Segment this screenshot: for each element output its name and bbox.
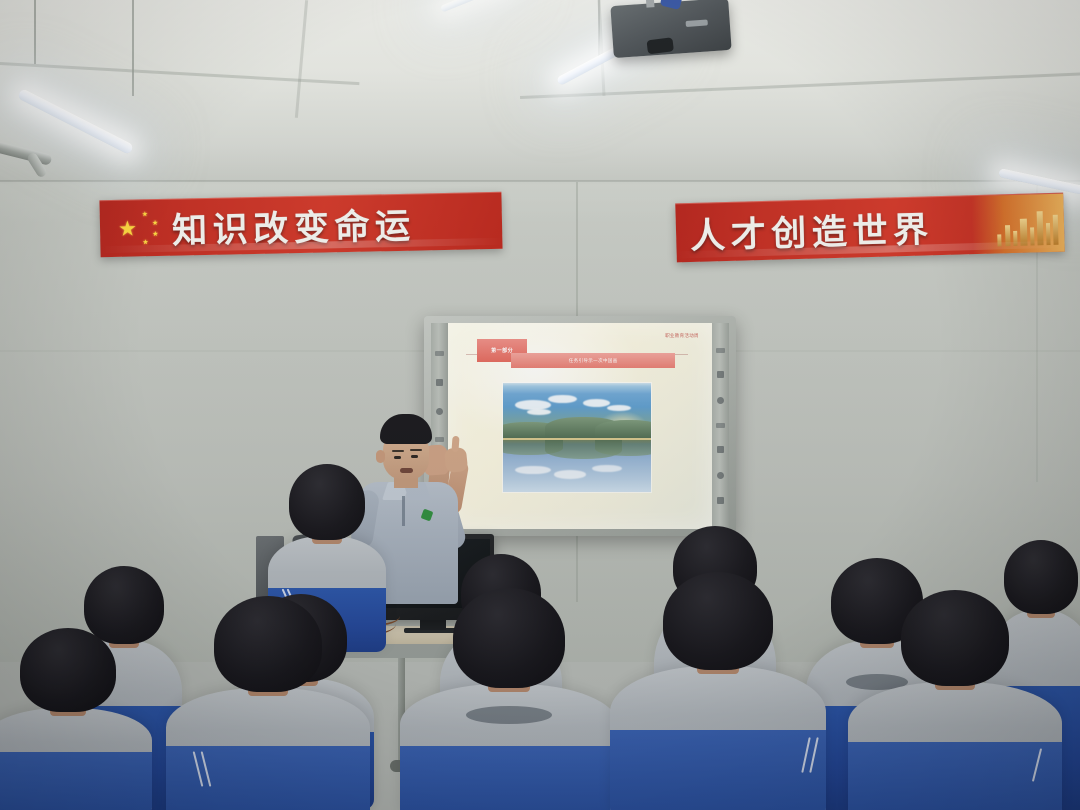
- student-head: [214, 596, 322, 692]
- student: [400, 644, 618, 810]
- student-head: [1004, 540, 1078, 614]
- student-head: [84, 566, 164, 644]
- teacher-mouth: [400, 468, 413, 473]
- eraser-icon[interactable]: [717, 397, 724, 404]
- student-uniform: [0, 708, 152, 810]
- slide-landscape-photo: [503, 383, 651, 492]
- banner-knowledge-changes-destiny: ★ ★ ★ ★ ★ 知识改变命运: [99, 192, 502, 257]
- student-uniform: [166, 688, 370, 810]
- teacher-hair: [380, 414, 432, 444]
- teacher-eyebrow: [392, 450, 404, 452]
- pen-icon[interactable]: [435, 351, 444, 356]
- student-uniform: [610, 666, 826, 810]
- student: [166, 650, 370, 810]
- student-head: [901, 590, 1009, 686]
- student: [0, 656, 152, 810]
- highlighter-icon[interactable]: [717, 371, 724, 378]
- student-head: [289, 464, 365, 540]
- classroom-photo: ★ ★ ★ ★ ★ 知识改变命运 人才创造世界: [0, 0, 1080, 810]
- slide-title-bar: 任务引导示一次中国画: [511, 353, 675, 368]
- ceiling: [0, 0, 1080, 186]
- student: [848, 642, 1062, 810]
- student-head: [453, 588, 565, 688]
- projector-badge: [686, 19, 708, 27]
- teacher-eye: [394, 456, 401, 459]
- student-head: [663, 572, 773, 670]
- eraser-icon[interactable]: [436, 379, 443, 386]
- pen-icon[interactable]: [716, 348, 725, 353]
- power-icon[interactable]: [717, 497, 724, 504]
- ceiling-seam: [295, 0, 308, 118]
- ceiling-projector: [610, 0, 731, 58]
- projector-mount: [645, 0, 654, 8]
- student-uniform: [400, 684, 618, 810]
- teacher-eye: [411, 455, 418, 458]
- settings-icon[interactable]: [717, 472, 724, 479]
- light-rod: [132, 0, 134, 96]
- whiteboard-toolbar-right[interactable]: [712, 323, 729, 529]
- student-head: [20, 628, 116, 712]
- student-uniform: [848, 682, 1062, 810]
- banner-talent-creates-world: 人才创造世界: [675, 193, 1064, 263]
- camera-icon[interactable]: [716, 423, 725, 428]
- student: [610, 620, 826, 810]
- projector-cable: [660, 0, 684, 10]
- light-rod: [598, 0, 600, 56]
- whiteboard-inner: 第一部分 任务引导示一次中国画 职业教育活动周: [431, 323, 729, 529]
- ceiling-seam: [0, 62, 359, 85]
- teacher-ear: [376, 450, 385, 463]
- projector-lens-icon: [646, 37, 674, 54]
- slide-corner-text: 职业教育活动周: [665, 333, 699, 339]
- teacher-pointing-finger: [451, 436, 459, 452]
- teacher-shirt-placket: [402, 496, 405, 526]
- whiteboard-screen[interactable]: 第一部分 任务引导示一次中国画 职业教育活动周: [448, 323, 712, 529]
- light-rod: [34, 0, 36, 64]
- keyboard-icon[interactable]: [717, 446, 724, 453]
- teacher-eyebrow: [410, 449, 422, 451]
